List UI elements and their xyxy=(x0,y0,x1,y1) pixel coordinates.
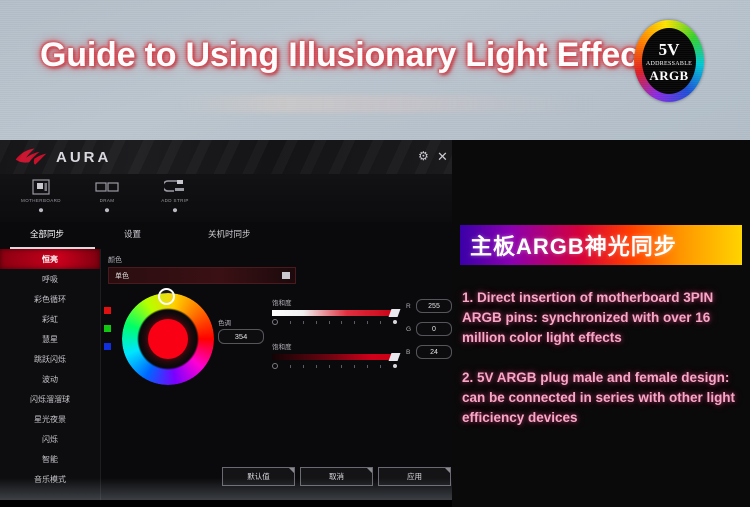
effect-item-strobing[interactable]: 闪烁 xyxy=(0,429,100,449)
gear-icon[interactable]: ⚙ xyxy=(418,149,429,163)
effect-settings-panel: 颜色 单色 xyxy=(100,249,452,500)
tick xyxy=(329,321,330,324)
tick xyxy=(341,321,342,324)
effect-item-color-cycle[interactable]: 彩色循环 xyxy=(0,289,100,309)
tab-shutdown-sync[interactable]: 关机时同步 xyxy=(208,228,251,240)
red-label: R xyxy=(406,303,416,310)
saturation-slider-knob[interactable] xyxy=(389,353,401,361)
close-icon[interactable]: ✕ xyxy=(437,149,448,165)
chevron-down-icon[interactable] xyxy=(282,272,290,279)
green-value-row: G 0 xyxy=(406,322,452,336)
tick xyxy=(354,365,355,368)
saturation-slider-group: 饱和度 xyxy=(272,341,397,369)
effect-item-static[interactable]: 恒亮 xyxy=(0,249,100,269)
green-input[interactable]: 0 xyxy=(416,322,452,336)
color-wheel-preview xyxy=(148,319,188,359)
tick xyxy=(290,321,291,324)
tick xyxy=(380,365,381,368)
aura-titlebar: AURA ⚙ ✕ xyxy=(0,140,452,175)
saturation-tick-marks xyxy=(272,363,397,369)
description-item-2: 2. 5V ARGB plug male and female design: … xyxy=(462,368,742,428)
effect-item-glowing-yoyo[interactable]: 闪烁溜溜球 xyxy=(0,389,100,409)
badge-voltage: 5V xyxy=(659,41,680,58)
green-dot-icon xyxy=(104,325,111,332)
motherboard-icon xyxy=(8,177,74,197)
brightness-slider[interactable] xyxy=(272,310,397,316)
header-banner: Guide to Using Illusionary Light Effect … xyxy=(0,0,750,140)
brightness-label: 饱和度 xyxy=(272,297,397,307)
blue-dot-icon xyxy=(104,343,111,350)
hue-control: 色调 354 xyxy=(218,317,264,344)
aura-app-name: AURA xyxy=(56,149,111,166)
power-icon[interactable]: ⏺ xyxy=(8,205,74,216)
tick xyxy=(367,321,368,324)
color-mode-value: 单色 xyxy=(115,271,129,281)
red-input[interactable]: 255 xyxy=(416,299,452,313)
effect-item-comet[interactable]: 慧星 xyxy=(0,329,100,349)
tick xyxy=(316,321,317,324)
effect-item-starry-night[interactable]: 星光夜景 xyxy=(0,409,100,429)
tick xyxy=(367,365,368,368)
window-bottom-shadow xyxy=(0,478,452,500)
lower-section: AURA ⚙ ✕ MOTHERBOARD ⏺ DRAM ⏺ xyxy=(0,140,750,507)
aura-device-row: MOTHERBOARD ⏺ DRAM ⏺ ADD STRIP ⏺ xyxy=(0,174,452,222)
green-label: G xyxy=(406,326,416,333)
tick xyxy=(303,321,304,324)
red-dot-icon xyxy=(104,307,111,314)
header-glow-artifact xyxy=(175,95,595,113)
tick-start-icon xyxy=(272,319,278,325)
blue-input[interactable]: 24 xyxy=(416,345,452,359)
badge-addressable: ADDRESSABLE xyxy=(646,61,692,67)
effect-item-rainbow[interactable]: 彩虹 xyxy=(0,309,100,329)
device-dram[interactable]: DRAM ⏺ xyxy=(74,177,140,216)
add-strip-icon xyxy=(142,177,208,197)
tick-end-icon xyxy=(393,364,397,368)
tick xyxy=(303,365,304,368)
badge-argb: ARGB xyxy=(649,69,688,82)
saturation-slider[interactable] xyxy=(272,354,397,360)
tick-end-icon xyxy=(393,320,397,324)
page-root: Guide to Using Illusionary Light Effect … xyxy=(0,0,750,507)
tick xyxy=(354,321,355,324)
color-section-label: 颜色 xyxy=(108,255,122,265)
color-mode-dropdown[interactable]: 单色 xyxy=(108,267,296,284)
tab-settings[interactable]: 设置 xyxy=(124,228,141,240)
rgb-indicator-dots xyxy=(104,307,111,361)
hue-label: 色调 xyxy=(218,317,264,327)
hue-input[interactable]: 354 xyxy=(218,329,264,344)
aura-body: 恒亮 呼吸 彩色循环 彩虹 慧星 跳跃闪烁 波动 闪烁溜溜球 星光夜景 闪烁 智… xyxy=(0,249,452,500)
rgb-value-fields: R 255 G 0 B 24 xyxy=(406,299,452,368)
tick-start-icon xyxy=(272,363,278,369)
blue-value-row: B 24 xyxy=(406,345,452,359)
aura-application-window: AURA ⚙ ✕ MOTHERBOARD ⏺ DRAM ⏺ xyxy=(0,140,455,500)
tick xyxy=(290,365,291,368)
effect-item-flash-dash[interactable]: 跳跃闪烁 xyxy=(0,349,100,369)
brightness-tick-marks xyxy=(272,319,397,325)
rog-logo-icon xyxy=(14,147,48,167)
aura-tab-bar: 全部同步 设置 关机时同步 xyxy=(0,222,452,250)
tab-sync-all[interactable]: 全部同步 xyxy=(30,228,64,240)
description-banner: 主板ARGB神光同步 xyxy=(460,225,742,265)
effect-item-breathing[interactable]: 呼吸 xyxy=(0,269,100,289)
device-add-strip-label: ADD STRIP xyxy=(142,198,208,203)
color-wheel[interactable] xyxy=(122,293,214,385)
argb-badge: 5V ADDRESSABLE ARGB xyxy=(634,20,704,102)
device-motherboard-label: MOTHERBOARD xyxy=(8,198,74,203)
description-banner-title: 主板ARGB神光同步 xyxy=(470,229,677,261)
red-value-row: R 255 xyxy=(406,299,452,313)
device-add-strip[interactable]: ADD STRIP ⏺ xyxy=(142,177,208,216)
tick xyxy=(380,321,381,324)
device-dram-label: DRAM xyxy=(74,198,140,203)
effect-item-wave[interactable]: 波动 xyxy=(0,369,100,389)
argb-badge-inner: 5V ADDRESSABLE ARGB xyxy=(642,28,696,94)
blue-label: B xyxy=(406,349,416,356)
brightness-slider-knob[interactable] xyxy=(389,309,401,317)
dram-icon xyxy=(74,177,140,197)
color-wheel-handle[interactable] xyxy=(158,288,175,305)
power-icon[interactable]: ⏺ xyxy=(74,205,140,216)
tick xyxy=(329,365,330,368)
tick xyxy=(341,365,342,368)
description-panel: 主板ARGB神光同步 1. Direct insertion of mother… xyxy=(452,140,750,507)
tick xyxy=(316,365,317,368)
saturation-label: 饱和度 xyxy=(272,341,397,351)
description-item-1: 1. Direct insertion of motherboard 3PIN … xyxy=(462,288,742,348)
brightness-slider-group: 饱和度 xyxy=(272,297,397,325)
device-motherboard[interactable]: MOTHERBOARD ⏺ xyxy=(8,177,74,216)
power-icon[interactable]: ⏺ xyxy=(142,205,208,216)
page-title: Guide to Using Illusionary Light Effect xyxy=(40,36,650,75)
